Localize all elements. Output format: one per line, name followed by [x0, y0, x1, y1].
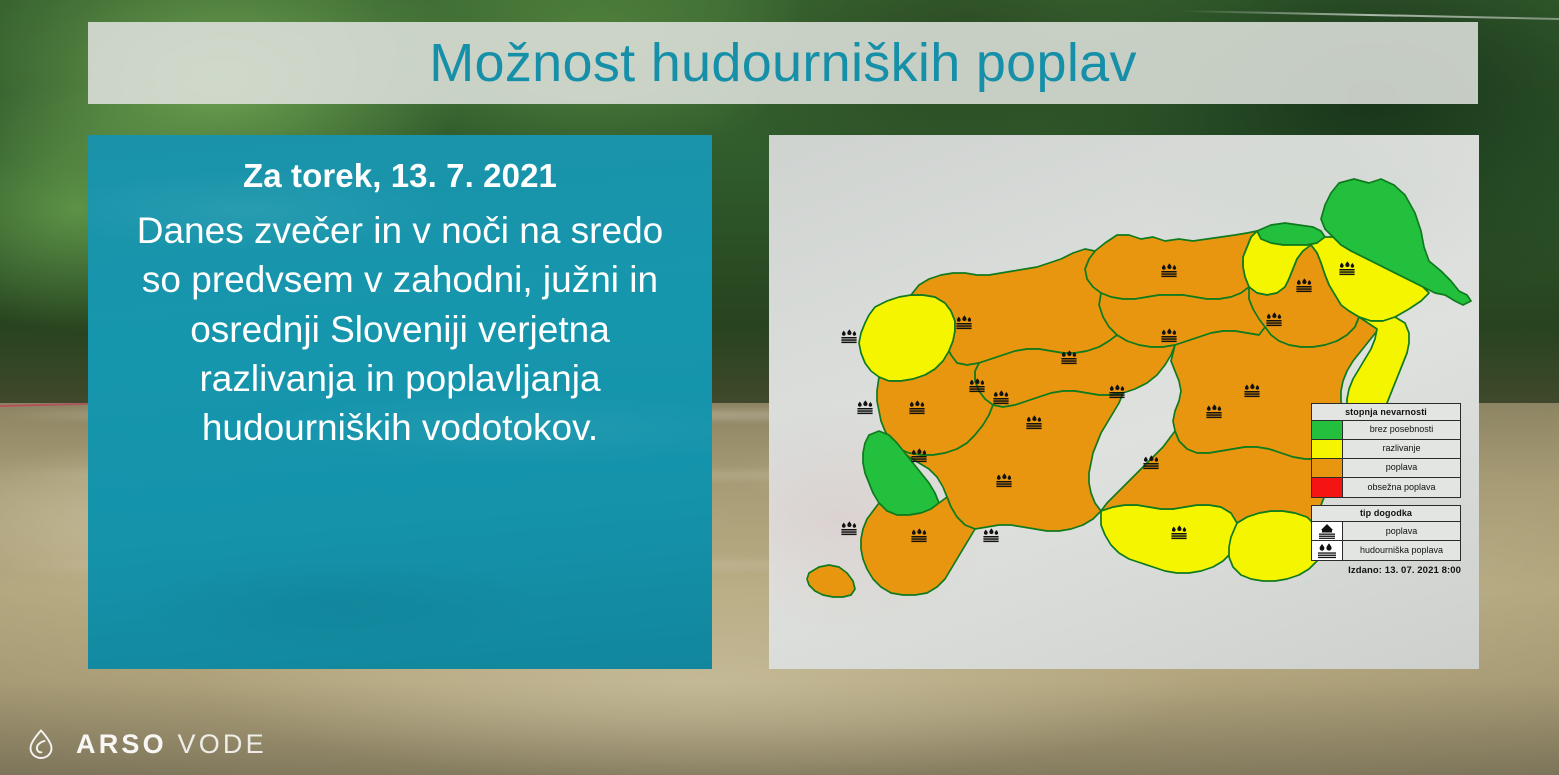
legend-label: hudourniška poplava: [1343, 541, 1460, 560]
map-issued-timestamp: Izdano: 13. 07. 2021 8:00: [1291, 565, 1461, 576]
legend-row-razlivanje: razlivanje: [1312, 440, 1460, 459]
legend-row-event-poplava: poplava: [1312, 522, 1460, 541]
legend-event-block: tip dogodka poplava: [1311, 505, 1461, 562]
arso-vode-logo: ARSO VODE: [24, 727, 267, 761]
legend-swatch-red: [1312, 478, 1343, 497]
legend-row-poplava: poplava: [1312, 459, 1460, 478]
region-kocevsko: [1101, 505, 1239, 573]
region-istra-coast: [807, 565, 855, 597]
forecast-date-heading: Za torek, 13. 7. 2021: [243, 155, 557, 196]
region-koroska: [1085, 231, 1257, 299]
logo-vode-text: VODE: [178, 729, 267, 759]
slide-title-bar: Možnost hudourniških poplav: [88, 22, 1478, 104]
forecast-text-panel: Za torek, 13. 7. 2021 Danes zvečer in v …: [88, 135, 712, 669]
legend-danger-heading: stopnja nevarnosti: [1312, 404, 1460, 421]
legend-label: poplava: [1343, 522, 1460, 540]
legend-danger-block: stopnja nevarnosti brez posebnosti razli…: [1311, 403, 1461, 498]
legend-event-heading: tip dogodka: [1312, 506, 1460, 523]
logo-wordmark: ARSO VODE: [76, 729, 267, 760]
legend-swatch-green: [1312, 421, 1343, 439]
page-title: Možnost hudourniških poplav: [429, 32, 1137, 94]
water-drop-icon: [24, 727, 58, 761]
house-on-water-icon: [1312, 522, 1343, 540]
droplets-on-water-icon: [1312, 541, 1343, 560]
legend-row-event-hudourniska: hudourniška poplava: [1312, 541, 1460, 560]
legend-label: poplava: [1343, 459, 1460, 477]
legend-row-obsezna-poplava: obsežna poplava: [1312, 478, 1460, 497]
slovenia-warning-map: [769, 135, 1479, 669]
logo-arso-text: ARSO: [76, 729, 167, 759]
legend-swatch-yellow: [1312, 440, 1343, 458]
flood-warning-map-panel: stopnja nevarnosti brez posebnosti razli…: [769, 135, 1479, 669]
legend-label: brez posebnosti: [1343, 421, 1460, 439]
legend-label: obsežna poplava: [1343, 478, 1460, 497]
forecast-body-text: Danes zvečer in v noči na sredo so predv…: [110, 206, 690, 452]
legend-label: razlivanje: [1343, 440, 1460, 458]
map-legend: stopnja nevarnosti brez posebnosti razli…: [1311, 403, 1461, 568]
legend-row-brez-posebnosti: brez posebnosti: [1312, 421, 1460, 440]
legend-swatch-orange: [1312, 459, 1343, 477]
